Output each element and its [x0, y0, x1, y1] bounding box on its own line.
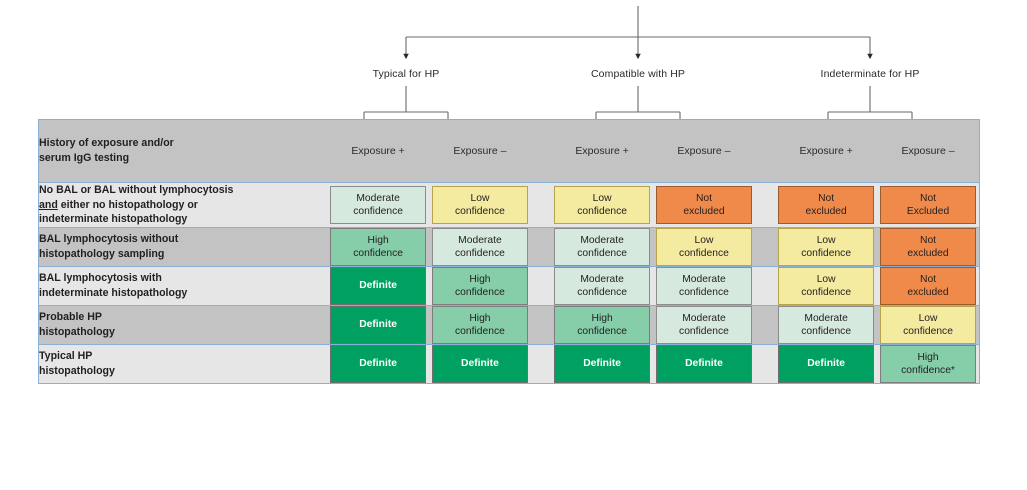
chip-line-2: confidence: [455, 325, 505, 338]
confidence-chip-notexcluded[interactable]: Notexcluded: [656, 186, 752, 224]
chip-line-2: Excluded: [907, 205, 949, 218]
matrix-cell: Definite: [429, 344, 531, 383]
matrix-group-gap: [531, 305, 551, 344]
column-header-exposure-2: Exposure +: [551, 120, 653, 183]
confidence-chip-notexcluded[interactable]: Notexcluded: [880, 228, 976, 266]
header-rowhead-line-2: serum IgG testing: [39, 151, 327, 166]
matrix-cell: Lowconfidence: [551, 183, 653, 228]
confidence-chip-high[interactable]: Highconfidence: [432, 267, 528, 305]
row-header-line-1: Typical HP: [39, 349, 327, 364]
matrix-row: BAL lymphocytosis withindeterminate hist…: [39, 266, 979, 305]
chip-line-2: confidence: [577, 286, 627, 299]
column-header-exposure-1: Exposure –: [429, 120, 531, 183]
matrix-header-row: History of exposure and/orserum IgG test…: [39, 120, 979, 183]
chip-line-2: excluded: [683, 205, 724, 218]
confidence-chip-notexcluded[interactable]: Notexcluded: [778, 186, 874, 224]
confidence-chip-moderate[interactable]: Moderateconfidence: [656, 267, 752, 305]
matrix-cell: Highconfidence*: [877, 344, 979, 383]
matrix-cell: Notexcluded: [877, 266, 979, 305]
chip-line-1: Moderate: [682, 312, 726, 325]
confidence-chip-definite[interactable]: Definite: [330, 306, 426, 344]
matrix-cell: Moderateconfidence: [551, 227, 653, 266]
chip-line-1: Moderate: [458, 234, 502, 247]
chip-line-1: Not: [920, 273, 936, 286]
confidence-chip-high[interactable]: Highconfidence: [330, 228, 426, 266]
confidence-chip-low[interactable]: Lowconfidence: [880, 306, 976, 344]
matrix-group-gap: [755, 227, 775, 266]
chip-line-2: confidence: [679, 286, 729, 299]
chip-line-1: High: [469, 273, 490, 286]
confidence-chip-moderate[interactable]: Moderateconfidence: [432, 228, 528, 266]
matrix-cell: Notexcluded: [877, 227, 979, 266]
matrix-group-gap: [755, 305, 775, 344]
matrix-cell: Moderateconfidence: [551, 266, 653, 305]
confidence-chip-low[interactable]: Lowconfidence: [778, 267, 874, 305]
row-header-line-2: histopathology sampling: [39, 247, 327, 262]
branch-label-indeterminate-for-hp: Indeterminate for HP: [821, 68, 920, 80]
chip-line-1: Definite: [807, 357, 845, 370]
confidence-chip-low[interactable]: Lowconfidence: [656, 228, 752, 266]
matrix-cell: Lowconfidence: [653, 227, 755, 266]
matrix-cell: Lowconfidence: [775, 227, 877, 266]
chip-line-1: Moderate: [682, 273, 726, 286]
row-header-line-1: BAL lymphocytosis with: [39, 271, 327, 286]
matrix-cell: Notexcluded: [653, 183, 755, 228]
matrix-cell: Definite: [327, 344, 429, 383]
confidence-chip-moderate[interactable]: Moderateconfidence: [554, 267, 650, 305]
confidence-chip-low[interactable]: Lowconfidence: [554, 186, 650, 224]
matrix-group-gap: [531, 266, 551, 305]
row-header-line-1: BAL lymphocytosis without: [39, 232, 327, 247]
chip-line-1: Not: [920, 192, 936, 205]
row-header-line-2: histopathology: [39, 325, 327, 340]
matrix-group-gap: [531, 227, 551, 266]
matrix-group-gap: [755, 266, 775, 305]
matrix-group-gap: [531, 344, 551, 383]
chip-line-1: Definite: [685, 357, 723, 370]
column-header-exposure-0: Exposure +: [327, 120, 429, 183]
chip-line-1: High: [469, 312, 490, 325]
matrix-cell: Definite: [551, 344, 653, 383]
row-header-line-1: No BAL or BAL without lymphocytosis: [39, 183, 327, 198]
chip-line-1: Low: [919, 312, 938, 325]
matrix-cell: Moderateconfidence: [653, 266, 755, 305]
branch-label-typical-for-hp: Typical for HP: [373, 68, 440, 80]
column-header-exposure-4: Exposure +: [775, 120, 877, 183]
chip-line-2: confidence: [455, 205, 505, 218]
confidence-chip-definite[interactable]: Definite: [656, 345, 752, 383]
confidence-chip-notexcluded[interactable]: NotExcluded: [880, 186, 976, 224]
chip-line-1: Low: [470, 192, 489, 205]
matrix-cell: Definite: [327, 266, 429, 305]
confidence-chip-moderate[interactable]: Moderateconfidence: [330, 186, 426, 224]
chip-line-1: Definite: [359, 318, 397, 331]
confidence-chip-moderate[interactable]: Moderateconfidence: [656, 306, 752, 344]
chip-line-1: Definite: [359, 279, 397, 292]
chip-line-2: confidence: [455, 286, 505, 299]
chip-line-2: confidence: [903, 325, 953, 338]
matrix-cell: Lowconfidence: [877, 305, 979, 344]
confidence-chip-moderate[interactable]: Moderateconfidence: [778, 306, 874, 344]
matrix-cell: Moderateconfidence: [775, 305, 877, 344]
chip-line-1: Moderate: [580, 234, 624, 247]
row-header-line-3: indeterminate histopathology: [39, 212, 327, 227]
header-rowhead-line-1: History of exposure and/or: [39, 136, 327, 151]
matrix-group-gap: [531, 120, 551, 183]
chip-line-2: excluded: [806, 205, 847, 218]
chip-line-1: Moderate: [580, 273, 624, 286]
confidence-chip-definite[interactable]: Definite: [432, 345, 528, 383]
confidence-matrix: History of exposure and/orserum IgG test…: [38, 119, 980, 384]
chip-line-1: Low: [817, 234, 836, 247]
matrix-group-gap: [755, 120, 775, 183]
confidence-chip-low[interactable]: Lowconfidence: [778, 228, 874, 266]
row-header-line-1: Probable HP: [39, 310, 327, 325]
chip-line-2: confidence: [455, 247, 505, 260]
matrix-group-gap: [531, 183, 551, 228]
chip-line-1: Low: [817, 273, 836, 286]
confidence-chip-notexcluded[interactable]: Notexcluded: [880, 267, 976, 305]
matrix-cell: Highconfidence: [429, 266, 531, 305]
chip-line-2: confidence: [679, 325, 729, 338]
matrix-cell: Highconfidence: [327, 227, 429, 266]
confidence-chip-high[interactable]: Highconfidence*: [880, 345, 976, 383]
column-header-exposure-5: Exposure –: [877, 120, 979, 183]
chip-line-2: confidence*: [901, 364, 955, 377]
matrix-row-header: Typical HPhistopathology: [39, 344, 327, 383]
matrix-cell: Moderateconfidence: [429, 227, 531, 266]
chip-line-1: Moderate: [804, 312, 848, 325]
chip-line-2: confidence: [577, 247, 627, 260]
chip-line-1: Not: [818, 192, 834, 205]
chip-line-1: Moderate: [356, 192, 400, 205]
chip-line-1: Not: [920, 234, 936, 247]
chip-line-1: Low: [593, 192, 612, 205]
matrix-row-header: BAL lymphocytosis withindeterminate hist…: [39, 266, 327, 305]
row-header-line-2: and either no histopathology or: [39, 198, 327, 213]
matrix-group-gap: [755, 344, 775, 383]
matrix-row: Probable HPhistopathologyDefiniteHighcon…: [39, 305, 979, 344]
matrix-cell: Moderateconfidence: [327, 183, 429, 228]
confidence-chip-high[interactable]: Highconfidence: [432, 306, 528, 344]
matrix-group-gap: [755, 183, 775, 228]
matrix-row: BAL lymphocytosis withouthistopathology …: [39, 227, 979, 266]
matrix-cell: Definite: [327, 305, 429, 344]
chip-line-2: confidence: [679, 247, 729, 260]
confidence-chip-definite[interactable]: Definite: [778, 345, 874, 383]
hp-diagnostic-confidence-figure: Typical for HP Compatible with HP Indete…: [0, 0, 1027, 490]
chip-line-1: Not: [696, 192, 712, 205]
chip-line-1: Low: [695, 234, 714, 247]
matrix-cell: Highconfidence: [429, 305, 531, 344]
matrix-cell: Notexcluded: [775, 183, 877, 228]
confidence-chip-definite[interactable]: Definite: [330, 267, 426, 305]
chip-line-2: confidence: [353, 205, 403, 218]
chip-line-1: High: [917, 351, 938, 364]
chip-line-1: Definite: [583, 357, 621, 370]
confidence-chip-low[interactable]: Lowconfidence: [432, 186, 528, 224]
confidence-chip-moderate[interactable]: Moderateconfidence: [554, 228, 650, 266]
matrix-header-rowhead: History of exposure and/orserum IgG test…: [39, 120, 327, 183]
chip-line-2: confidence: [577, 205, 627, 218]
chip-line-2: confidence: [353, 247, 403, 260]
column-header-exposure-3: Exposure –: [653, 120, 755, 183]
confidence-chip-high[interactable]: Highconfidence: [554, 306, 650, 344]
chip-line-1: High: [592, 312, 613, 325]
chip-line-1: High: [368, 234, 389, 247]
matrix-cell: Moderateconfidence: [653, 305, 755, 344]
chip-line-1: Definite: [461, 357, 499, 370]
matrix-cell: Lowconfidence: [429, 183, 531, 228]
chip-line-1: Definite: [359, 357, 397, 370]
row-header-line-2: histopathology: [39, 364, 327, 379]
matrix-cell: NotExcluded: [877, 183, 979, 228]
chip-line-2: excluded: [907, 286, 948, 299]
matrix-cell: Definite: [775, 344, 877, 383]
matrix-cell: Definite: [653, 344, 755, 383]
matrix-row-header: No BAL or BAL without lymphocytosisand e…: [39, 183, 327, 228]
chip-line-2: confidence: [801, 247, 851, 260]
row-header-line-2: indeterminate histopathology: [39, 286, 327, 301]
matrix-row: Typical HPhistopathologyDefiniteDefinite…: [39, 344, 979, 383]
matrix-row: No BAL or BAL without lymphocytosisand e…: [39, 183, 979, 228]
chip-line-2: confidence: [577, 325, 627, 338]
emphasis-and: and: [39, 199, 58, 211]
confidence-chip-definite[interactable]: Definite: [554, 345, 650, 383]
confidence-chip-definite[interactable]: Definite: [330, 345, 426, 383]
branch-label-compatible-with-hp: Compatible with HP: [591, 68, 685, 80]
chip-line-2: excluded: [907, 247, 948, 260]
matrix-row-header: BAL lymphocytosis withouthistopathology …: [39, 227, 327, 266]
matrix-cell: Highconfidence: [551, 305, 653, 344]
confidence-matrix-table: History of exposure and/orserum IgG test…: [39, 120, 979, 383]
chip-line-2: confidence: [801, 286, 851, 299]
chip-line-2: confidence: [801, 325, 851, 338]
matrix-cell: Lowconfidence: [775, 266, 877, 305]
matrix-row-header: Probable HPhistopathology: [39, 305, 327, 344]
